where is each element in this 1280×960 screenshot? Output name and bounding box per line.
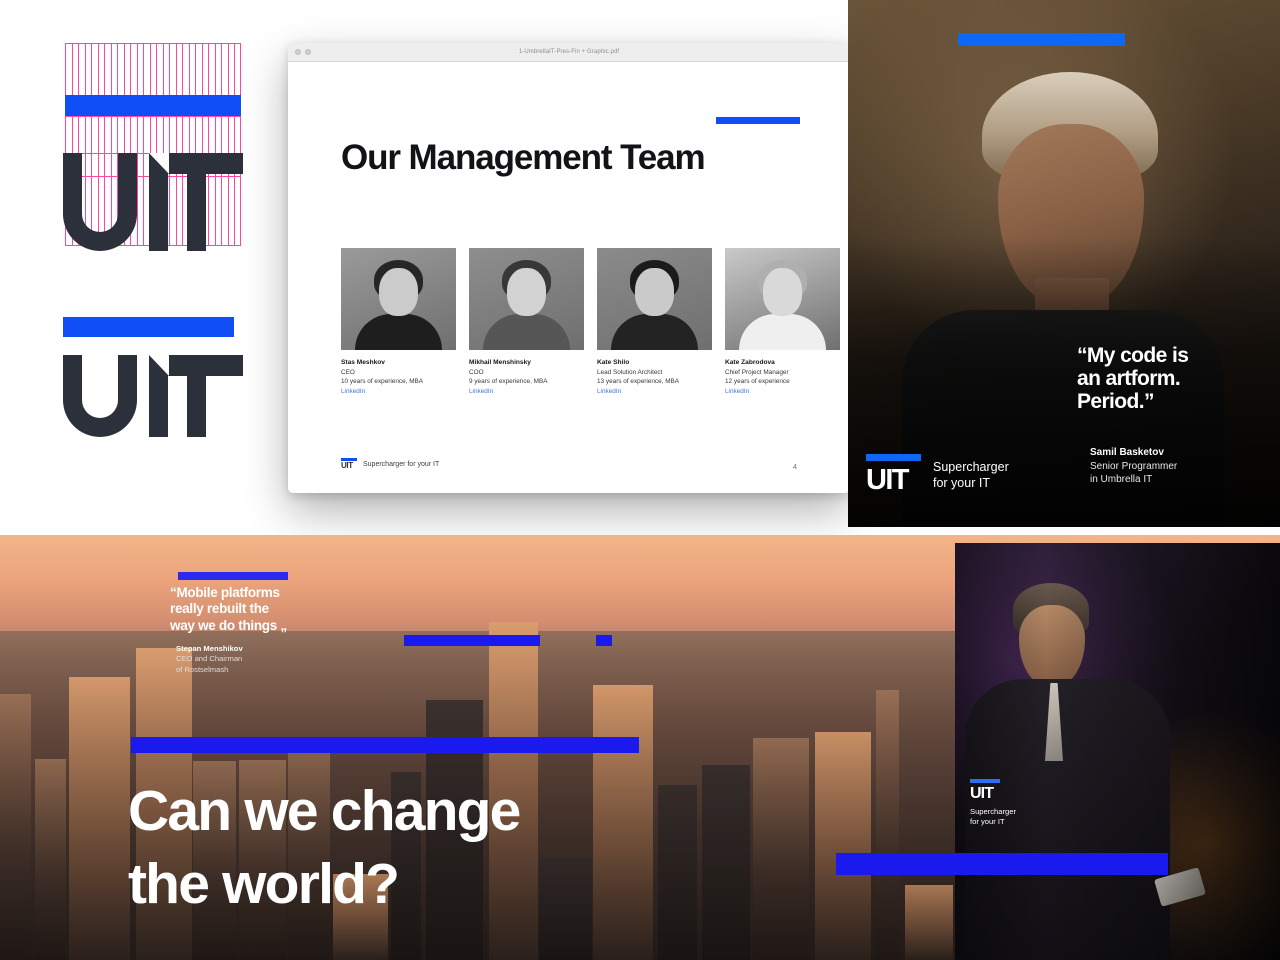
quote-author-role-1: CEO and Chairman [176, 654, 243, 665]
page-number: 4 [793, 462, 797, 471]
quote-line-2: an artform. [1077, 368, 1267, 391]
team-member-card: Stas MeshkovCEO10 years of experience, M… [341, 248, 456, 395]
headline-line-2: the world? [128, 848, 768, 921]
quote-line-3: Period.” [1077, 391, 1267, 414]
slide-canvas: Our Management Team Stas MeshkovCEO10 ye… [288, 62, 850, 493]
member-linkedin-link[interactable]: LinkedIn [341, 388, 456, 395]
poster-attribution: Samil Basketov Senior Programmer in Umbr… [1090, 446, 1177, 486]
uit-logo-icon: UIT [341, 458, 357, 471]
tagline-line-1: Supercharger [933, 460, 1009, 475]
team-member-list: Stas MeshkovCEO10 years of experience, M… [341, 248, 840, 395]
portrait-quote-poster: “My code is an artform. Period.” Samil B… [848, 0, 1280, 527]
member-name: Mikhail Menshinsky [469, 359, 584, 366]
window-titlebar[interactable]: 1-UmbrellaIT-Pres-Fin + Graphic.pdf [288, 43, 850, 62]
logo-wordmark-text: UIT [341, 462, 353, 470]
interview-quote-card: UIT Supercharger for your IT [955, 543, 1280, 960]
member-name: Kate Zabrodova [725, 359, 840, 366]
member-role: Lead Solution Architect [597, 369, 712, 376]
city-accent-bar-3 [131, 737, 639, 753]
headline-line-1: Can we change [128, 775, 768, 848]
team-member-card: Kate ZabrodovaChief Project Manager12 ye… [725, 248, 840, 395]
member-name: Kate Shilo [597, 359, 712, 366]
photo-face [379, 268, 418, 316]
logo-accent-bar-grid [65, 95, 241, 116]
quote-line-1: “Mobile platforms [170, 585, 320, 601]
photo-face [507, 268, 546, 316]
card-logo-lockup: UIT Supercharger for your IT [970, 779, 1016, 827]
member-photo [469, 248, 584, 350]
member-photo [725, 248, 840, 350]
poster-logo-lockup: UIT Supercharger for your IT [866, 454, 1009, 497]
footer-brand: UIT Supercharger for your IT [341, 458, 439, 471]
quote-line-1: “My code is [1077, 345, 1267, 368]
quote-line-2: really rebuilt the [170, 601, 320, 617]
poster-logo-tagline: Supercharger for your IT [933, 460, 1009, 491]
logo-final-lockup [63, 317, 239, 437]
logo-wordmark-text: UIT [866, 466, 908, 495]
member-role: Chief Project Manager [725, 369, 840, 376]
close-icon[interactable] [295, 49, 301, 55]
poster-quote: “My code is an artform. Period.” [1077, 345, 1267, 414]
letter-t-stem-glyph [187, 355, 206, 437]
team-member-card: Mikhail MenshinskyCOO9 years of experien… [469, 248, 584, 395]
member-photo [341, 248, 456, 350]
logo-accent-bar [970, 779, 1000, 783]
tagline-line-1: Supercharger [970, 807, 1016, 817]
window-controls[interactable] [295, 49, 311, 55]
member-linkedin-link[interactable]: LinkedIn [597, 388, 712, 395]
member-linkedin-link[interactable]: LinkedIn [725, 388, 840, 395]
tagline-line-2: for your IT [970, 817, 1016, 827]
card-quote-text: “Mobile platforms really rebuilt the way… [170, 585, 320, 634]
tagline-line-2: for your IT [933, 476, 1009, 491]
brand-identity-showcase: 1-UmbrellaIT-Pres-Fin + Graphic.pdf Our … [0, 0, 1280, 960]
pdf-viewer-window[interactable]: 1-UmbrellaIT-Pres-Fin + Graphic.pdf Our … [288, 43, 850, 493]
logo-wordmark-text: UIT [970, 785, 1016, 803]
logo-grid-diagram [65, 43, 241, 246]
logo-accent-bar [63, 317, 234, 337]
quote-author-name: Stepan Menshikov [176, 643, 243, 654]
poster-accent-bar-top [958, 33, 1125, 46]
member-experience: 10 years of experience, MBA [341, 378, 456, 385]
uit-logo-icon: UIT [866, 454, 923, 497]
card-attribution: Stepan Menshikov CEO and Chairman of Ros… [176, 643, 243, 676]
letter-u-glyph [63, 153, 137, 251]
quote-author-role-1: Senior Programmer [1090, 460, 1177, 473]
city-accent-bar-1 [404, 635, 540, 646]
member-name: Stas Meshkov [341, 359, 456, 366]
quote-author-role-2: in Umbrella IT [1090, 473, 1177, 486]
card-vignette-overlay [955, 543, 1280, 960]
member-experience: 13 years of experience, MBA [597, 378, 712, 385]
member-role: CEO [341, 369, 456, 376]
member-linkedin-link[interactable]: LinkedIn [469, 388, 584, 395]
city-accent-bar-4 [836, 853, 1168, 875]
photo-face [763, 268, 802, 316]
window-title: 1-UmbrellaIT-Pres-Fin + Graphic.pdf [288, 49, 850, 55]
member-experience: 12 years of experience [725, 378, 840, 385]
member-experience: 9 years of experience, MBA [469, 378, 584, 385]
letter-t-stem-glyph [187, 153, 206, 251]
member-photo [597, 248, 712, 350]
logo-wordmark-grid [63, 153, 243, 251]
card-logo-tagline: Supercharger for your IT [970, 807, 1016, 827]
logo-accent-bar [866, 454, 921, 461]
footer-tagline: Supercharger for your IT [363, 461, 439, 468]
minimize-icon[interactable] [305, 49, 311, 55]
quote-line-3: way we do things „ [170, 618, 320, 634]
city-accent-bar-2 [596, 635, 612, 646]
member-role: COO [469, 369, 584, 376]
slide-footer: UIT Supercharger for your IT 4 [341, 458, 797, 471]
card-accent-bar-top [178, 572, 288, 580]
quote-author-role-2: of Rostselmash [176, 665, 243, 676]
title-accent-bar [716, 117, 800, 124]
page-title: Our Management Team [341, 140, 705, 175]
photo-face [635, 268, 674, 316]
letter-u-glyph [63, 355, 137, 437]
quote-author-name: Samil Basketov [1090, 446, 1177, 460]
slide-title-block: Our Management Team [341, 140, 705, 175]
logo-wordmark-final [63, 355, 239, 437]
team-member-card: Kate ShiloLead Solution Architect13 year… [597, 248, 712, 395]
city-headline: Can we change the world? [128, 775, 768, 921]
